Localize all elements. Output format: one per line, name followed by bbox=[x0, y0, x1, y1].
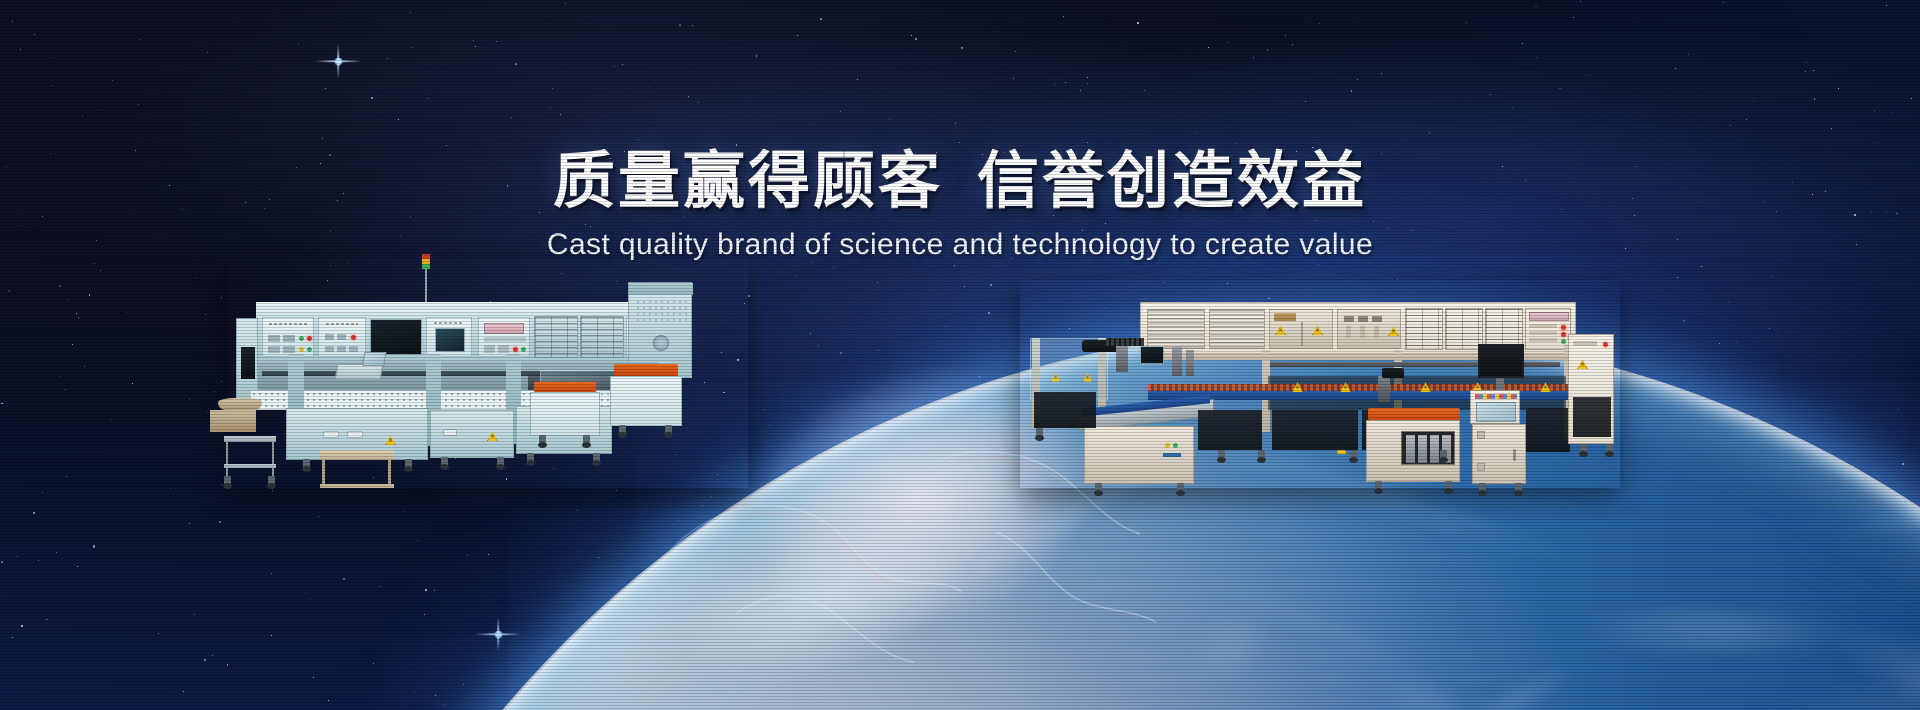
orange-tray bbox=[614, 364, 678, 376]
switch-cabinet[interactable] bbox=[1337, 309, 1401, 349]
infeed-cabinet[interactable] bbox=[1084, 426, 1194, 484]
control-panel-2[interactable] bbox=[318, 317, 366, 357]
display-panel-dark[interactable] bbox=[370, 319, 422, 355]
page-title: 质量赢得顾客信誉创造效益 bbox=[0, 150, 1920, 212]
tray-rack-1 bbox=[534, 316, 578, 358]
electrical-cabinet[interactable] bbox=[1269, 309, 1333, 349]
vented-cabinet-1[interactable] bbox=[1147, 309, 1205, 349]
banner-copy: 质量赢得顾客信誉创造效益 Cast quality brand of scien… bbox=[0, 150, 1920, 260]
tray-rack-2 bbox=[580, 316, 624, 358]
headline-part-2: 信誉创造效益 bbox=[977, 144, 1367, 217]
tray-rack-1 bbox=[1405, 308, 1443, 350]
nozzle-assembly bbox=[1186, 350, 1194, 376]
console-cabinet[interactable] bbox=[1472, 424, 1526, 484]
orange-tray bbox=[534, 382, 596, 392]
vented-cabinet-2[interactable] bbox=[1209, 309, 1265, 349]
hmi-touch-panel[interactable] bbox=[426, 317, 472, 357]
trolley-top bbox=[224, 436, 276, 442]
cable-chain bbox=[1106, 338, 1144, 346]
operator-terminal[interactable] bbox=[335, 364, 384, 380]
feed-base bbox=[210, 410, 256, 432]
operator-hmi[interactable] bbox=[1470, 390, 1520, 424]
right-end-frame bbox=[1568, 334, 1614, 444]
hero-banner: 质量赢得顾客信誉创造效益 Cast quality brand of scien… bbox=[0, 0, 1920, 710]
headline-part-1: 质量赢得顾客 bbox=[553, 144, 943, 217]
base-panel bbox=[1034, 392, 1096, 428]
control-panel-row bbox=[256, 310, 660, 362]
base-panel bbox=[1526, 408, 1570, 452]
left-production-line bbox=[228, 258, 748, 488]
right-assembly-line bbox=[1020, 280, 1620, 488]
operator-monitor[interactable] bbox=[1478, 344, 1524, 378]
orange-tray bbox=[1368, 408, 1460, 420]
robot-gantry-head bbox=[1378, 376, 1390, 402]
dispenser-head bbox=[1116, 346, 1128, 372]
base-panel bbox=[1272, 410, 1358, 450]
output-station-2[interactable] bbox=[610, 376, 682, 426]
base-cabinet-2[interactable] bbox=[430, 410, 514, 458]
work-bench bbox=[320, 450, 394, 460]
base-panel bbox=[1198, 410, 1262, 450]
inspection-monitor[interactable] bbox=[1140, 346, 1164, 364]
output-station-1[interactable] bbox=[530, 392, 600, 436]
control-panel-1[interactable] bbox=[262, 317, 314, 357]
nozzle-assembly bbox=[1172, 346, 1182, 376]
instrument-panel[interactable] bbox=[478, 317, 530, 357]
signal-tower-icon bbox=[422, 254, 430, 305]
feed-tray bbox=[218, 398, 262, 410]
page-subtitle: Cast quality brand of science and techno… bbox=[0, 230, 1920, 260]
